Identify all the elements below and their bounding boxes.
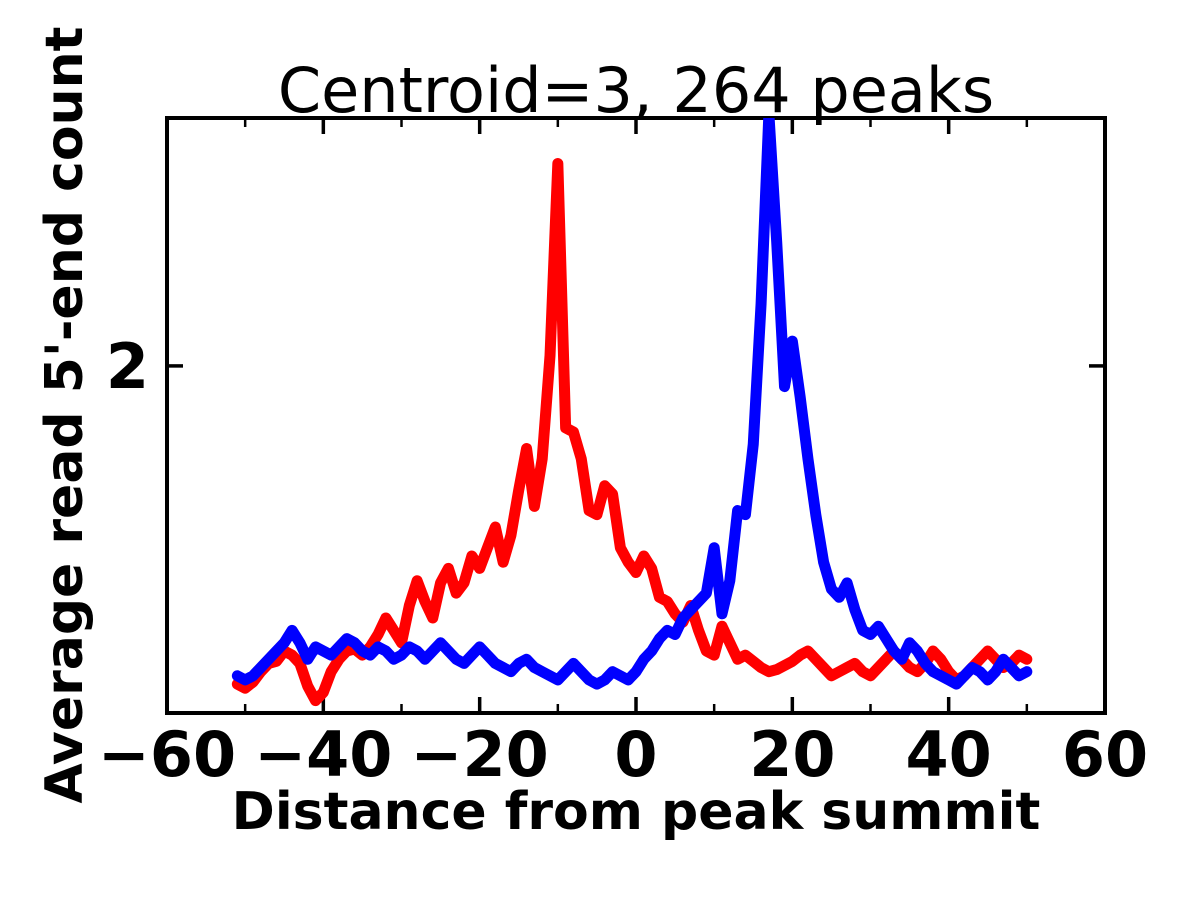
y-tick-label: 2 xyxy=(106,330,149,403)
x-tick-label: −40 xyxy=(254,718,392,791)
x-axis-title: Distance from peak summit xyxy=(232,782,1041,842)
chart-svg: Centroid=3, 264 peaks Average read 5'-en… xyxy=(0,0,1200,900)
x-tick-label: 20 xyxy=(749,718,835,791)
x-tick-label: 60 xyxy=(1062,718,1148,791)
y-axis-title: Average read 5'-end count xyxy=(35,27,95,804)
x-tick-label: −20 xyxy=(411,718,549,791)
x-tick-label: 40 xyxy=(906,718,992,791)
chart-figure: Centroid=3, 264 peaks Average read 5'-en… xyxy=(0,0,1200,900)
x-tick-label: 0 xyxy=(614,718,657,791)
x-tick-label: −60 xyxy=(98,718,236,791)
